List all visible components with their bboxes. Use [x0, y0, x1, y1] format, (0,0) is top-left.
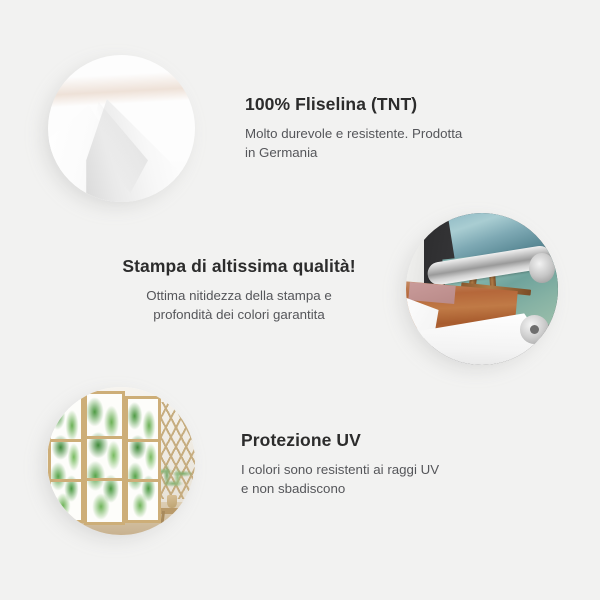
room-divider-image — [47, 387, 195, 535]
printer-image — [406, 213, 558, 365]
divider-crossbar-3a — [128, 439, 158, 442]
divider-crossbar-1b — [51, 479, 81, 482]
feature-image-stampa — [406, 213, 558, 365]
divider-leaf-print-1 — [51, 399, 81, 520]
printer-roller-end-cap — [529, 253, 555, 283]
feature-text-stampa: Stampa di altissima qualità! Ottima niti… — [118, 256, 360, 325]
feature-text-fliselina: 100% Fliselina (TNT) Molto durevole e re… — [245, 94, 515, 163]
divider-crossbar-2b — [87, 478, 122, 481]
divider-crossbar-2a — [87, 436, 122, 439]
divider-crossbar-3b — [128, 479, 158, 482]
feature-heading-protezione-uv: Protezione UV — [241, 430, 511, 451]
feature-image-fliselina — [48, 55, 195, 202]
feature-image-protezione-uv — [47, 387, 195, 535]
feature-body-protezione-uv-line1: I colori sono resistenti ai raggi UV — [241, 460, 511, 479]
feature-body-fliselina-line1: Molto durevole e resistente. Prodotta — [245, 124, 515, 143]
divider-panel-2 — [84, 391, 125, 524]
divider-panel-3 — [125, 396, 161, 523]
feature-body-protezione-uv-line2: e non sbadiscono — [241, 479, 511, 498]
divider-panel-1 — [48, 396, 84, 523]
wallpaper-roll-image — [48, 55, 195, 202]
feature-body-stampa-line2: profondità dei colori garantita — [118, 305, 360, 324]
feature-heading-fliselina: 100% Fliselina (TNT) — [245, 94, 515, 115]
divider-leaf-print-2 — [87, 394, 122, 521]
infographic-canvas: 100% Fliselina (TNT) Molto durevole e re… — [0, 0, 600, 600]
feature-text-protezione-uv: Protezione UV I colori sono resistenti a… — [241, 430, 511, 499]
divider-leaf-print-3 — [128, 399, 158, 520]
feature-body-stampa-line1: Ottima nitidezza della stampa e — [118, 286, 360, 305]
feature-body-fliselina-line2: in Germania — [245, 143, 515, 162]
divider-crossbar-1a — [51, 439, 81, 442]
feature-heading-stampa: Stampa di altissima qualità! — [118, 256, 360, 277]
